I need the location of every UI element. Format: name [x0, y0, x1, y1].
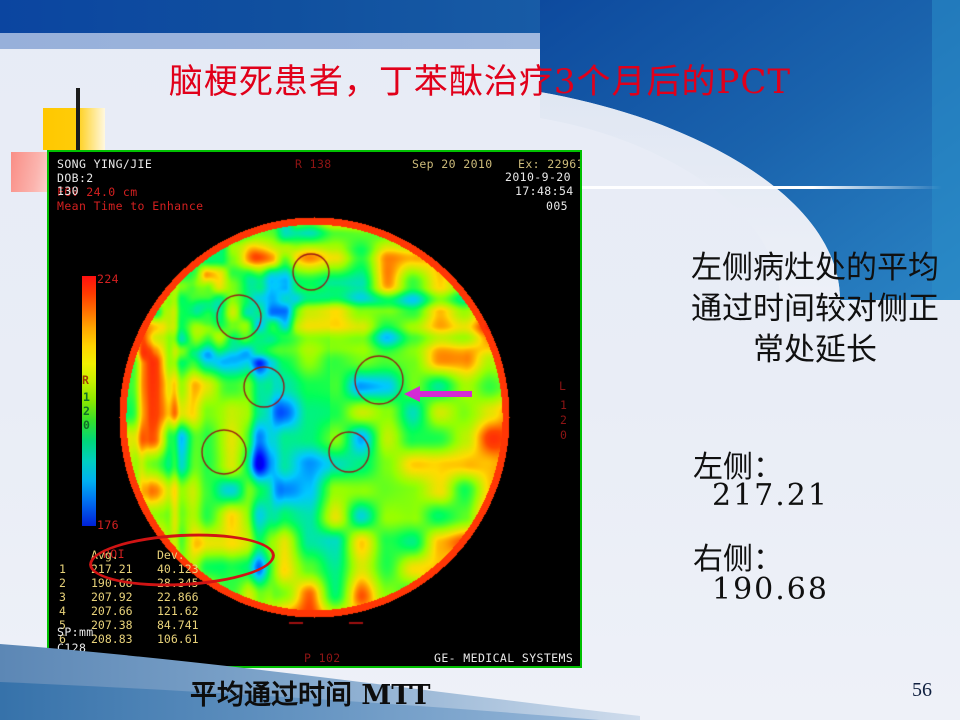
roi-index: 4	[59, 604, 91, 618]
slide-title: 脑梗死患者，丁苯酞治疗3个月后的PCT	[0, 62, 960, 102]
roi-dev: 22.866	[157, 590, 227, 604]
ct-study-date: Sep 20 2010	[412, 158, 493, 171]
ct-fov-overlay: 130	[57, 185, 79, 198]
ct-map-type: Mean Time to Enhance	[57, 200, 203, 213]
orientation-right-value: 120	[83, 390, 90, 432]
slide-caption: 平均通过时间 MTT	[190, 673, 431, 712]
ct-series-number: 005	[546, 200, 568, 213]
roi-avg: 207.66	[91, 604, 157, 618]
colorbar-min-value: 176	[97, 519, 119, 532]
ct-slice-position: R 138	[295, 158, 332, 171]
slide-canvas: 脑梗死患者，丁苯酞治疗3个月后的PCT SONG YING/JIE DOB:2 …	[0, 0, 960, 720]
roi-dev: 121.62	[157, 604, 227, 618]
roi-table-row: 4207.66121.62	[59, 604, 227, 618]
findings-paragraph: 左侧病灶处的平均通过时间较对侧正常处延长	[690, 248, 940, 371]
colorbar-max-value: 224	[97, 273, 119, 286]
roi-table-row: 3207.9222.866	[59, 590, 227, 604]
roi-avg: 207.92	[91, 590, 157, 604]
right-side-value: 190.68	[712, 572, 829, 607]
orientation-left-value: 120	[560, 398, 567, 443]
ct-acquisition-date: 2010-9-20	[505, 171, 571, 184]
roi-index: 3	[59, 590, 91, 604]
ct-patient-name: SONG YING/JIE	[57, 158, 152, 171]
ct-acquisition-time: 17:48:54	[515, 185, 574, 198]
orientation-marker-left: L	[559, 380, 566, 393]
ct-perfusion-image: SONG YING/JIE DOB:2 FOV 24.0 cm 130 Mean…	[47, 150, 582, 668]
left-side-value: 217.21	[712, 478, 829, 513]
roi-index: 2	[59, 576, 91, 590]
lesion-pointer-arrow	[404, 386, 472, 402]
page-number: 56	[912, 679, 932, 702]
roi-index: 1	[59, 562, 91, 576]
orientation-marker-right: R	[82, 374, 89, 387]
decor-yellow-block	[43, 108, 105, 150]
